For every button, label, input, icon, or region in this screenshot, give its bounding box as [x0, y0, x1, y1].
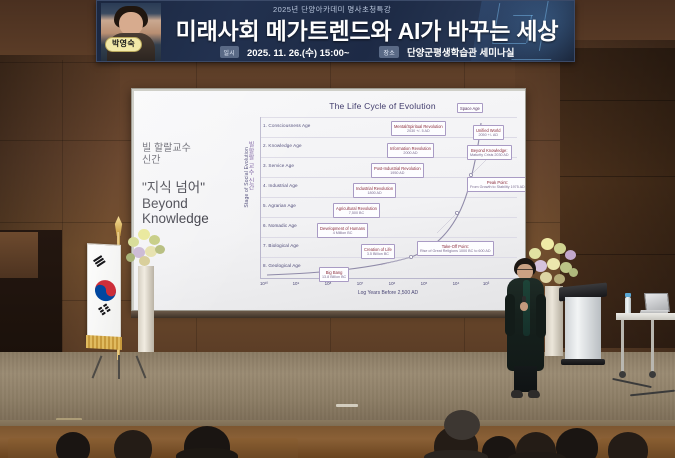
flag-fringe — [86, 335, 122, 350]
evolution-chart: The Life Cycle of Evolution Stage of Soc… — [242, 97, 523, 307]
x-tick: 10¹⁰ — [260, 281, 268, 287]
flower-arrangement-left — [124, 225, 170, 271]
x-tick: 10⁹ — [293, 281, 300, 286]
presenter-hand — [520, 302, 528, 311]
x-tick: 10⁶ — [389, 281, 396, 286]
lecture-hall-photo: 박영숙 2025년 단양아카데미 명사초청특강 미래사회 메가트렌드와 AI가 … — [0, 0, 675, 458]
south-korean-flag — [87, 243, 121, 343]
lectern-base — [561, 359, 605, 365]
bottle-cap — [625, 293, 631, 297]
slide-left-text: 빌 할랄교수 신간 "지식 넘어" Beyond Knowledge — [142, 143, 248, 227]
chart-annotation: Development of Humans 4 Million BC — [317, 223, 368, 238]
chart-annotation: Beyond Knowledge: Maturity Crisis 2030 A… — [467, 145, 512, 160]
audience-shoulder — [508, 452, 566, 458]
place-chip: 장소 — [379, 46, 398, 58]
glasses-icon — [517, 269, 533, 273]
presenter-shoe — [528, 390, 540, 398]
audience-head — [114, 430, 152, 458]
presenter-arm-left — [505, 294, 515, 336]
speaker-portrait — [101, 3, 161, 61]
x-tick: 10⁴ — [453, 281, 460, 286]
audience-head — [56, 432, 90, 458]
presenter-arm-right — [536, 294, 546, 338]
chart-x-axis-label: Log Years Before 2,500 AD — [260, 290, 516, 296]
slide-book-line2: 신간 — [142, 155, 248, 167]
x-tick: 10⁵ — [421, 281, 428, 286]
lectern-body — [565, 297, 601, 359]
chart-annotation: Take-Off Point: Rise of Great Religions … — [417, 241, 494, 256]
presenter-legs — [514, 366, 537, 392]
presenter-shoe — [511, 390, 523, 398]
projection-screen: 빌 할랄교수 신간 "지식 넘어" Beyond Knowledge 빌할랄 교… — [131, 88, 526, 311]
chart-annotation: Space Age — [457, 103, 483, 113]
x-tick: 10³ — [483, 281, 489, 286]
speaker-name-badge: 박영숙 — [105, 37, 142, 52]
chart-annotation: Post-Industrial Revolution 1950 AD — [371, 163, 424, 178]
audience-head — [556, 428, 598, 458]
chart-y-axis-label: Stage of Social Evolution — [244, 147, 250, 208]
slide-book-quote: "지식 넘어" — [142, 180, 248, 196]
table-top — [616, 313, 675, 320]
chart-x-axis: 10¹⁰ 10⁹ 10⁸ 10⁷ 10⁶ 10⁵ 10⁴ 10³ 10² — [260, 281, 516, 290]
slide-book-en1: Beyond — [142, 196, 248, 212]
x-tick: 10⁷ — [357, 281, 363, 286]
banner-title: 미래사회 메가트렌드와 AI가 바꾸는 세상 — [167, 12, 567, 46]
chair-back — [228, 438, 298, 458]
chart-annotation: Industrial Revolution 1800 AD — [353, 183, 396, 198]
banner-meta: 일시 2025. 11. 26.(수) 15:00~ 장소 단양군평생학습관 세… — [167, 45, 567, 59]
audience-shoulder — [424, 450, 488, 458]
chart-annotation: Big Bang 13.8 Billion BC — [319, 267, 349, 282]
chart-annotation: Peak Point: From Growth to Stability 197… — [467, 177, 525, 192]
chart-annotation: Mental/Spiritual Revolution 2030 +/- 5 A… — [391, 121, 446, 136]
date-chip: 일시 — [220, 46, 239, 58]
presenter-table — [616, 313, 675, 385]
date-text: 2025. 11. 26.(수) 15:00~ — [247, 45, 350, 59]
chart-annotation: Agricultural Revolution 7,500 BC — [333, 203, 380, 218]
audience-shoulder — [176, 448, 238, 458]
left-low-cabinet — [0, 232, 38, 278]
flag-stand — [96, 355, 142, 381]
floor-marker — [336, 404, 358, 407]
chart-annotation: Information Revolution 2000 AD — [387, 143, 434, 158]
chart-plot-area: 1. Consciousness Age 2. Knowledge Age 3.… — [260, 117, 516, 279]
taeguk-symbol — [95, 280, 116, 302]
presenter — [503, 258, 549, 403]
x-tick: 10⁸ — [325, 281, 332, 286]
slide-surface: 빌 할랄교수 신간 "지식 넘어" Beyond Knowledge 빌할랄 교… — [134, 91, 525, 310]
event-banner: 박영숙 2025년 단양아카데미 명사초청특강 미래사회 메가트렌드와 AI가 … — [96, 0, 575, 62]
audience-head — [444, 410, 480, 440]
screen-bottom-bar — [131, 311, 526, 318]
place-text: 단양군평생학습관 세미나실 — [407, 45, 515, 59]
chart-annotation: Unified World 2050 +/- AD — [473, 125, 504, 140]
lectern — [559, 285, 607, 369]
slide-book-line1: 빌 할랄교수 — [142, 143, 248, 155]
flower-vase-left — [138, 266, 154, 352]
chart-annotation: Creation of Life 3.5 Billion BC — [361, 244, 395, 259]
